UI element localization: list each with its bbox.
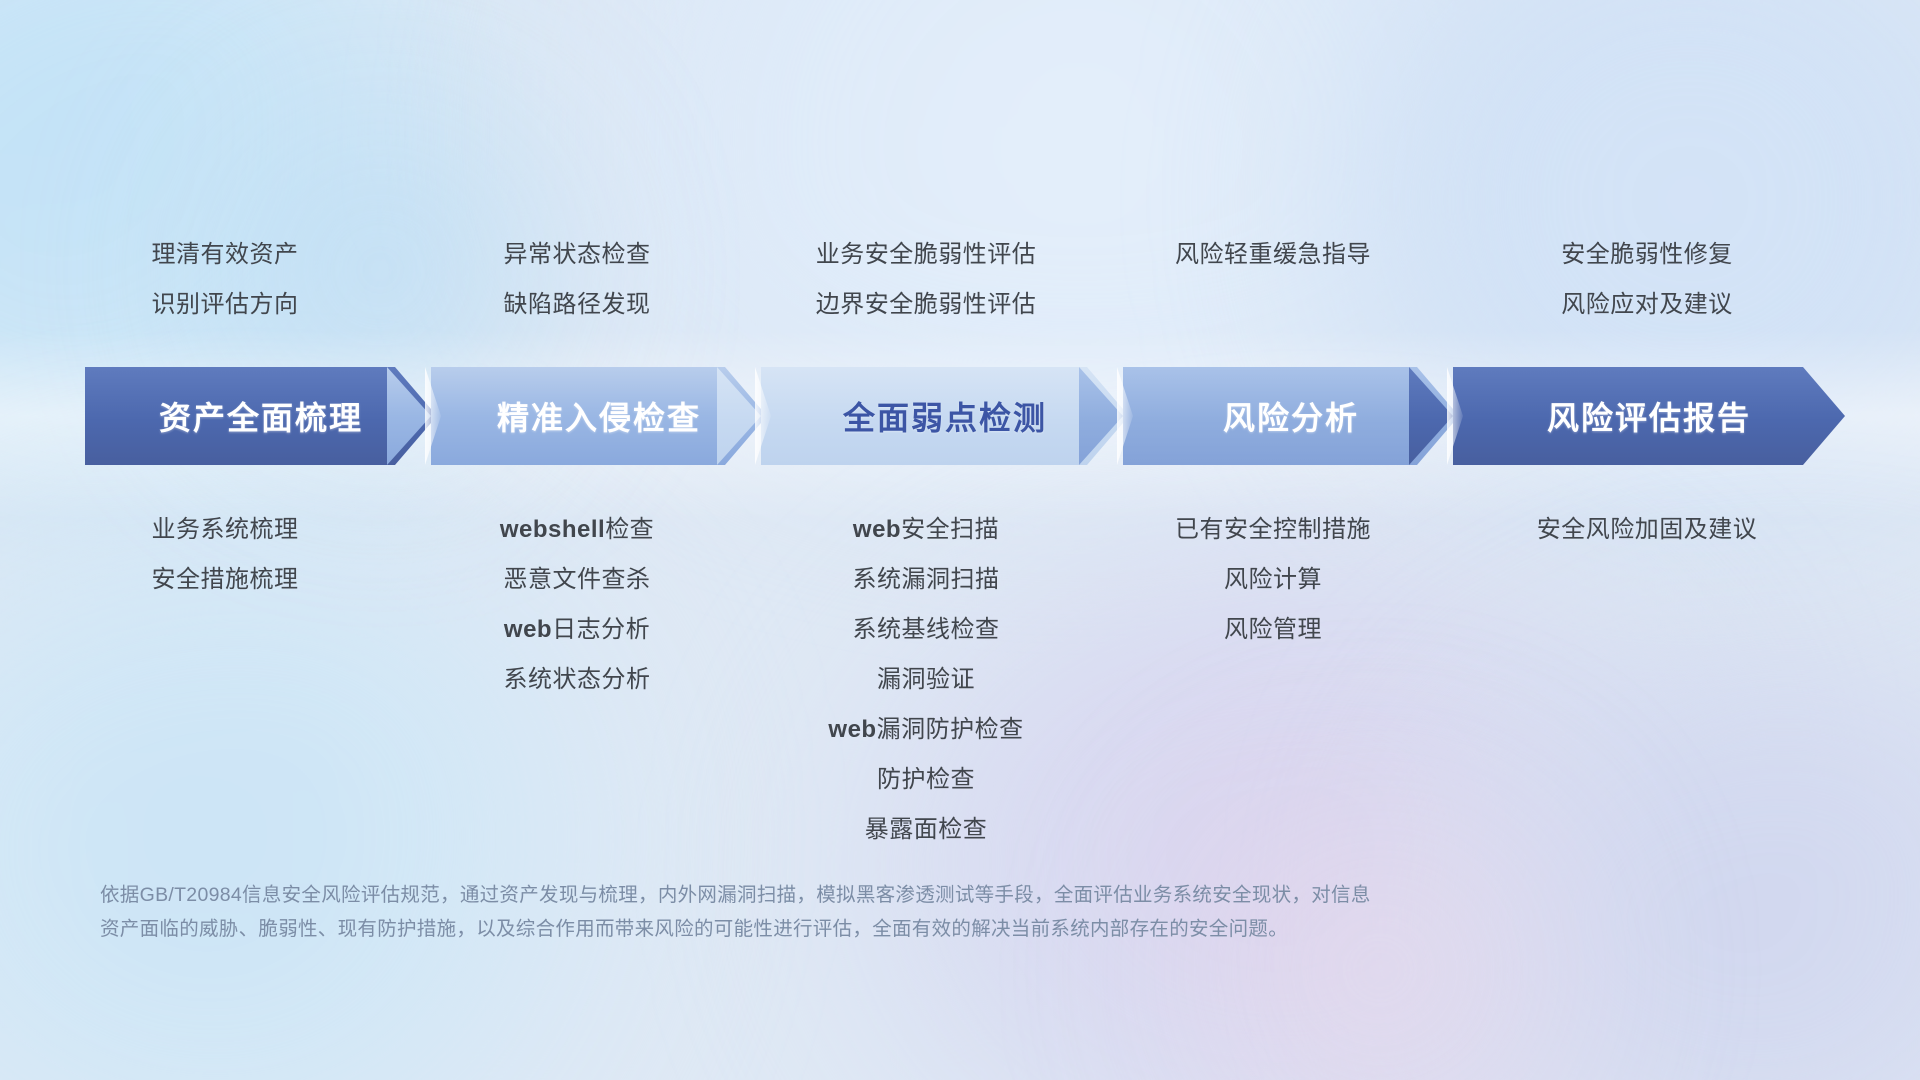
- bottom-label-zh: 已有安全控制措施: [1175, 516, 1371, 543]
- bottom-label-zh: 系统状态分析: [504, 666, 651, 693]
- bottom-label-zh: 暴露面检查: [865, 816, 988, 843]
- bottom-label: 安全措施梳理: [45, 555, 405, 605]
- bottom-label-zh: 安全风险加固及建议: [1537, 516, 1758, 543]
- bottom-label-latin: web: [853, 516, 901, 543]
- chevron-asset-inventory[interactable]: 资产全面梳理: [85, 367, 437, 465]
- footer-description: 依据GB/T20984信息安全风险评估规范，通过资产发现与梳理，内外网漏洞扫描，…: [100, 878, 1640, 946]
- bottom-label-zh: 漏洞防护检查: [877, 716, 1024, 743]
- bottom-label-latin: webshell: [500, 516, 605, 543]
- bottom-label: 系统漏洞扫描: [751, 555, 1101, 605]
- top-labels-asset-inventory: 理清有效资产 识别评估方向: [45, 230, 405, 350]
- chevron-title: 资产全面梳理: [159, 393, 363, 439]
- stage-chevron-band: 资产全面梳理 精准入侵检查 全面弱点检测 风险分析: [85, 367, 1845, 465]
- chevron-title: 风险分析: [1223, 393, 1359, 439]
- bottom-label-zh: 检查: [605, 516, 654, 543]
- top-labels-intrusion-check: 异常状态检查 缺陷路径发现: [427, 230, 727, 350]
- bottom-label: 恶意文件查杀: [427, 555, 727, 605]
- bottom-labels-row: 业务系统梳理 安全措施梳理 webshell检查 恶意文件查杀 web日志分析 …: [0, 505, 1920, 855]
- bottom-label: 暴露面检查: [751, 805, 1101, 855]
- bottom-label: web安全扫描: [751, 505, 1101, 555]
- top-label: 安全脆弱性修复: [1457, 230, 1837, 280]
- bottom-label-zh: 风险管理: [1224, 616, 1322, 643]
- bottom-label-latin: web: [504, 616, 552, 643]
- bottom-label-zh: 漏洞验证: [877, 666, 975, 693]
- bottom-label-latin: web: [828, 716, 876, 743]
- top-labels-assessment-report: 安全脆弱性修复 风险应对及建议: [1457, 230, 1837, 350]
- bottom-label: 系统基线检查: [751, 605, 1101, 655]
- bottom-label: 风险管理: [1123, 605, 1423, 655]
- top-labels-weakness-detection: 业务安全脆弱性评估 边界安全脆弱性评估: [751, 230, 1101, 350]
- bottom-label: 安全风险加固及建议: [1457, 505, 1837, 555]
- top-label: 边界安全脆弱性评估: [751, 280, 1101, 330]
- bottom-label-zh: 业务系统梳理: [152, 516, 299, 543]
- bottom-label: 防护检查: [751, 755, 1101, 805]
- bottom-label-zh: 系统基线检查: [853, 616, 1000, 643]
- chevron-title: 风险评估报告: [1547, 393, 1751, 439]
- bottom-label: 业务系统梳理: [45, 505, 405, 555]
- bottom-label-zh: 安全措施梳理: [152, 566, 299, 593]
- chevron-risk-analysis[interactable]: 风险分析: [1123, 367, 1459, 465]
- top-label: 风险应对及建议: [1457, 280, 1837, 330]
- bottom-label: 已有安全控制措施: [1123, 505, 1423, 555]
- bottom-labels-asset-inventory: 业务系统梳理 安全措施梳理: [45, 505, 405, 855]
- chevron-title: 精准入侵检查: [497, 393, 701, 439]
- bottom-label: 系统状态分析: [427, 655, 727, 705]
- bottom-labels-risk-analysis: 已有安全控制措施 风险计算 风险管理: [1123, 505, 1423, 855]
- bottom-label: web漏洞防护检查: [751, 705, 1101, 755]
- top-labels-risk-analysis: 风险轻重缓急指导: [1123, 230, 1423, 350]
- top-label: 风险轻重缓急指导: [1123, 230, 1423, 280]
- top-label: 识别评估方向: [45, 280, 405, 330]
- bottom-labels-intrusion-check: webshell检查 恶意文件查杀 web日志分析 系统状态分析: [427, 505, 727, 855]
- bottom-label-zh: 安全扫描: [901, 516, 999, 543]
- bottom-label: web日志分析: [427, 605, 727, 655]
- top-label: 理清有效资产: [45, 230, 405, 280]
- bottom-label-zh: 防护检查: [877, 766, 975, 793]
- bottom-label-zh: 系统漏洞扫描: [853, 566, 1000, 593]
- process-flow-diagram: 理清有效资产 识别评估方向 异常状态检查 缺陷路径发现 业务安全脆弱性评估 边界…: [0, 0, 1920, 1080]
- bottom-label: 风险计算: [1123, 555, 1423, 605]
- bottom-labels-weakness-detection: web安全扫描 系统漏洞扫描 系统基线检查 漏洞验证 web漏洞防护检查 防护检…: [751, 505, 1101, 855]
- chevron-assessment-report[interactable]: 风险评估报告: [1453, 367, 1845, 465]
- top-labels-row: 理清有效资产 识别评估方向 异常状态检查 缺陷路径发现 业务安全脆弱性评估 边界…: [0, 230, 1920, 350]
- chevron-intrusion-check[interactable]: 精准入侵检查: [431, 367, 767, 465]
- chevron-weakness-detection[interactable]: 全面弱点检测: [761, 367, 1129, 465]
- footer-line: 依据GB/T20984信息安全风险评估规范，通过资产发现与梳理，内外网漏洞扫描，…: [100, 878, 1640, 912]
- bottom-label: webshell检查: [427, 505, 727, 555]
- top-label: 异常状态检查: [427, 230, 727, 280]
- chevron-title: 全面弱点检测: [843, 393, 1047, 439]
- bottom-label-zh: 风险计算: [1224, 566, 1322, 593]
- top-label: 缺陷路径发现: [427, 280, 727, 330]
- bottom-label-zh: 恶意文件查杀: [504, 566, 651, 593]
- footer-line: 资产面临的威胁、脆弱性、现有防护措施，以及综合作用而带来风险的可能性进行评估，全…: [100, 912, 1640, 946]
- bottom-label: 漏洞验证: [751, 655, 1101, 705]
- bottom-labels-assessment-report: 安全风险加固及建议: [1457, 505, 1837, 855]
- top-label: 业务安全脆弱性评估: [751, 230, 1101, 280]
- bottom-label-zh: 日志分析: [552, 616, 650, 643]
